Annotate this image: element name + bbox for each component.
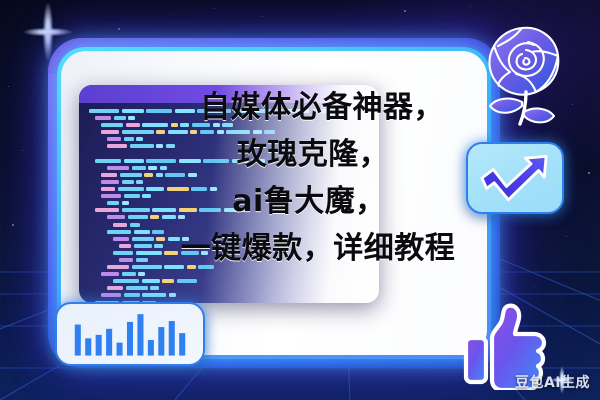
rose-icon — [470, 16, 574, 126]
code-token — [113, 279, 139, 283]
poster-canvas: 自媒体必备神器， 玫瑰克隆， ai鲁大魔， 一键爆款，详细教程 — [0, 0, 600, 400]
code-line — [79, 293, 379, 297]
code-token — [101, 293, 121, 297]
code-token — [124, 293, 140, 297]
chart-bar — [148, 340, 154, 356]
code-token — [122, 272, 136, 276]
code-line — [79, 279, 379, 283]
code-token — [142, 279, 160, 283]
star-dot — [404, 10, 406, 12]
bar-chart-icon — [57, 304, 203, 364]
star-dot — [214, 8, 215, 9]
chart-bar — [127, 322, 133, 356]
chart-bar — [169, 321, 175, 356]
rose-icon-svg — [470, 16, 574, 126]
code-token — [126, 286, 148, 290]
star-dot — [118, 28, 120, 30]
code-token — [107, 286, 123, 290]
watermark-label: 豆包AI生成 — [515, 372, 590, 392]
code-token — [142, 293, 166, 297]
headline-line-4: 一键爆款，详细教程 — [0, 225, 600, 272]
star-dot — [330, 36, 331, 37]
code-token — [138, 272, 145, 276]
chart-bar — [106, 329, 112, 356]
chart-bar — [158, 327, 164, 355]
code-token — [177, 279, 197, 283]
chart-bar — [75, 325, 81, 356]
code-token — [162, 279, 174, 283]
code-token — [169, 293, 176, 297]
chart-bar — [96, 335, 102, 356]
star-dot — [262, 16, 263, 17]
code-line — [79, 286, 379, 290]
code-token — [101, 272, 119, 276]
chart-bar — [85, 338, 91, 355]
code-token — [150, 286, 159, 290]
chart-bar — [179, 333, 185, 355]
code-line — [79, 272, 379, 276]
trending-up-arrow-icon — [468, 144, 562, 212]
bar-chart-badge[interactable] — [55, 302, 205, 366]
chart-bar — [137, 314, 143, 355]
trending-up-badge[interactable] — [466, 142, 564, 214]
chart-bar — [117, 343, 123, 356]
star-dot — [470, 6, 471, 7]
